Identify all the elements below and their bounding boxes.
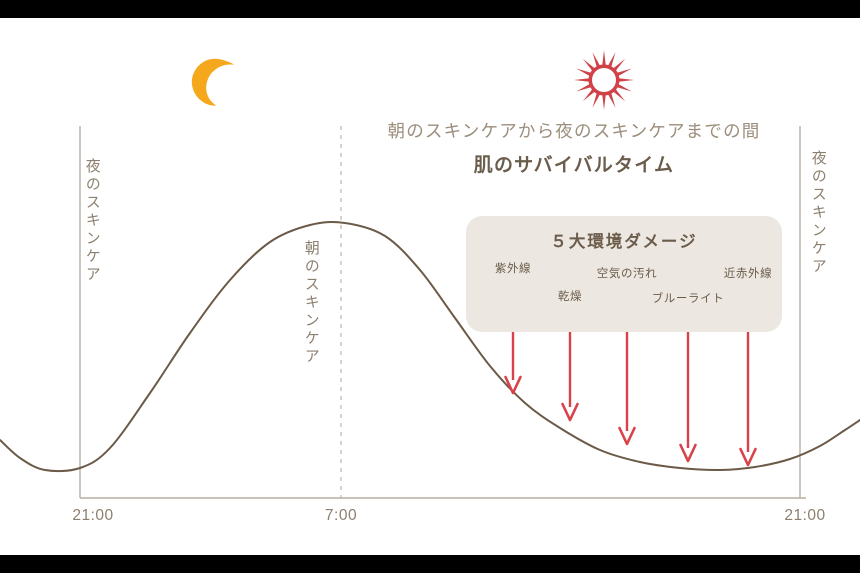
sun-ray-15	[593, 52, 601, 67]
sun-ray-1	[608, 52, 616, 67]
damage-label-3: 空気の汚れ	[597, 265, 658, 281]
letterbox-top	[0, 0, 860, 18]
damage-label-5: 近赤外線	[724, 265, 772, 281]
sun-ray-7	[608, 93, 616, 108]
screenshot-stage: 夜のスキンケア 朝のスキンケア 夜のスキンケア 朝のスキンケアから夜のスキンケア…	[0, 0, 860, 573]
sun-ray-5	[617, 84, 632, 92]
x-tick-label-left: 21:00	[72, 507, 113, 525]
damage-label-2: 乾燥	[558, 288, 582, 304]
headline-subtitle: 朝のスキンケアから夜のスキンケアまでの間	[352, 118, 796, 144]
sun-ray-9	[593, 93, 601, 108]
x-tick-label-center: 7:00	[325, 507, 357, 525]
vertical-label-night-left: 夜のスキンケア	[84, 158, 100, 284]
x-tick-label-right: 21:00	[784, 507, 825, 525]
damage-panel-title: ５大環境ダメージ	[466, 228, 782, 252]
damage-label-4: ブルーライト	[652, 290, 725, 306]
headline-block: 朝のスキンケアから夜のスキンケアまでの間 肌のサバイバルタイム	[352, 118, 796, 177]
sun-ray-0	[602, 50, 606, 66]
sun-ray-12	[574, 78, 590, 82]
sun-ray-11	[576, 84, 591, 92]
damage-label-1: 紫外線	[495, 260, 531, 276]
letterbox-bottom	[0, 555, 860, 573]
vertical-label-morning: 朝のスキンケア	[303, 240, 319, 366]
sun-ray-4	[618, 78, 634, 82]
headline-title: 肌のサバイバルタイム	[352, 150, 796, 177]
vertical-label-night-right: 夜のスキンケア	[810, 150, 826, 276]
sun-ray-3	[617, 69, 632, 77]
sun-icon	[568, 46, 640, 114]
infographic-canvas: 夜のスキンケア 朝のスキンケア 夜のスキンケア 朝のスキンケアから夜のスキンケア…	[0, 18, 860, 555]
sun-ray-8	[602, 94, 606, 110]
sun-ray-13	[576, 69, 591, 77]
moon-icon	[186, 55, 242, 107]
